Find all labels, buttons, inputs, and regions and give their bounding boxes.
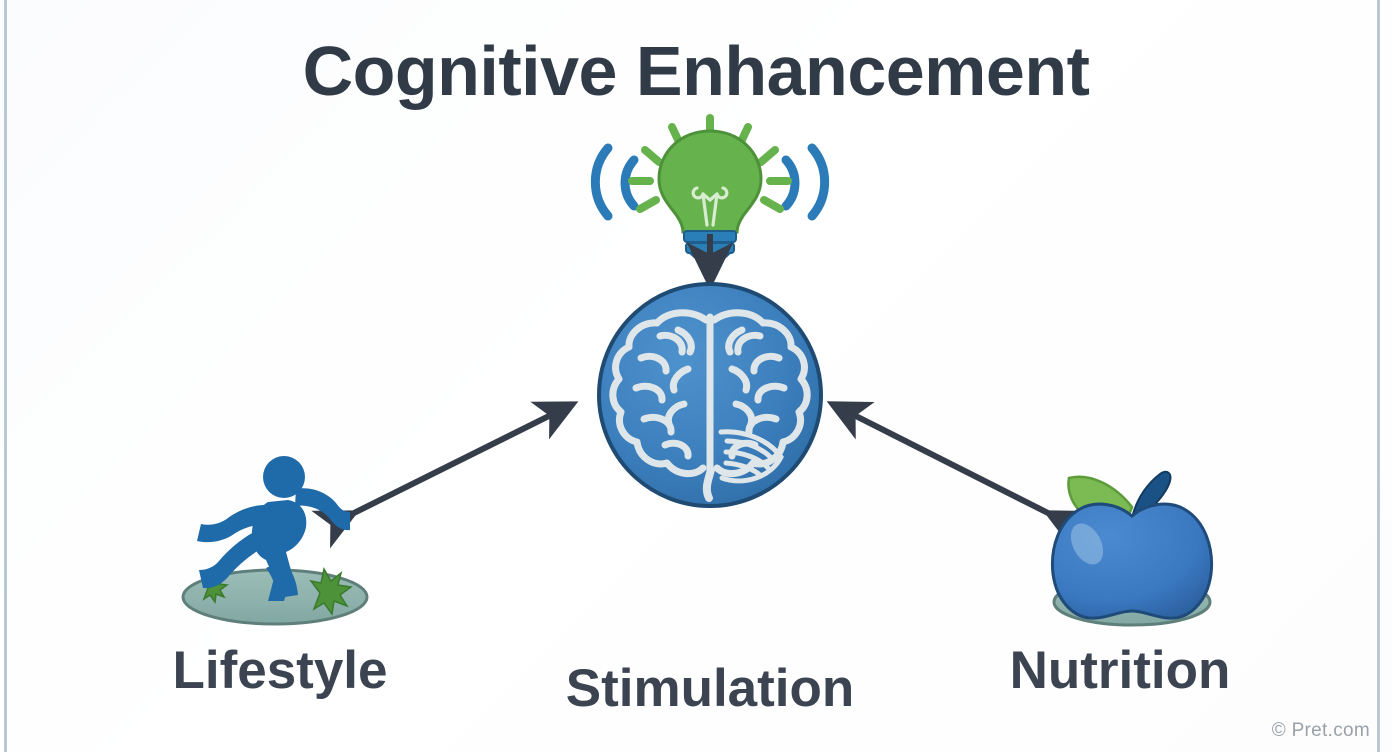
diagram-canvas: Cognitive Enhancement xyxy=(0,0,1392,752)
apple-icon xyxy=(1052,472,1211,625)
arrow-nutrition-brain xyxy=(832,404,1048,513)
node-label-nutrition: Nutrition xyxy=(960,640,1280,701)
arrow-lifestyle-brain xyxy=(354,404,573,513)
node-label-lifestyle: Lifestyle xyxy=(120,640,440,701)
node-label-stimulation: Stimulation xyxy=(535,658,885,719)
running-person-icon xyxy=(183,456,367,624)
brain-circle-icon xyxy=(599,284,821,506)
watermark: © Pret.com xyxy=(1272,720,1370,742)
